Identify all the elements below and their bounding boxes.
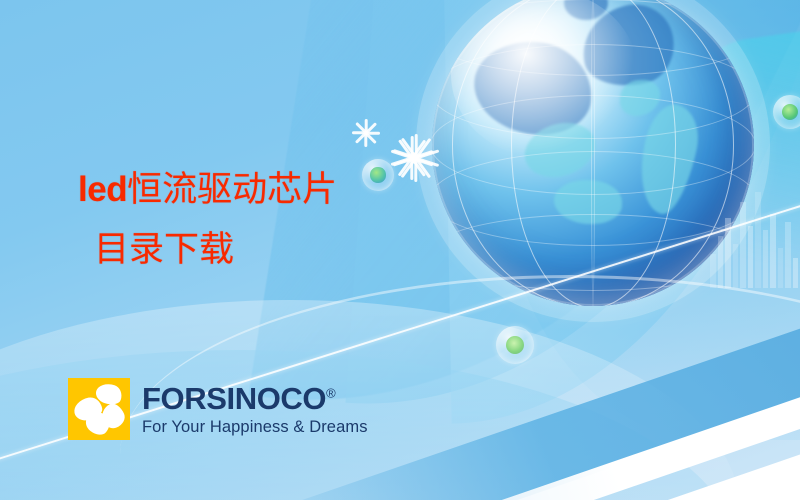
skyline-building [725,218,731,288]
company-name-word: FORSINOCO [142,381,326,416]
bubble-leaf-icon-core [506,336,524,354]
sparkle-ray [365,133,368,147]
logo-text-block: FORSINOCO® For Your Happiness & Dreams [142,383,368,436]
sparkle-ray [355,122,367,134]
city-skyline-silhouette [710,188,800,288]
sparkle-ray [365,119,368,133]
headline-text: led恒流驱动芯片 目录下载 [78,160,418,280]
sparkle-ray [393,149,417,159]
promo-banner: led恒流驱动芯片 目录下载 FORSINOCO® For Your Happi… [0,0,800,500]
headline-cjk-main: 恒流驱动芯片 [127,170,337,209]
sparkle-small-upper [352,119,380,147]
dark-blue-diagonal-band [389,371,800,500]
headline-line-2: 目录下载 [78,220,418,280]
sparkle-ray [391,150,413,159]
skyline-building [778,248,784,288]
sparkle-ray [401,138,417,159]
sparkle-ray [365,132,377,144]
skyline-building [740,202,746,288]
bubble-right-edge-core [782,104,798,120]
sparkle-ray [355,132,367,144]
sparkle-ray [415,138,431,159]
skyline-building [733,244,739,288]
bubble-leaf-icon [496,326,534,364]
company-logo: FORSINOCO® For Your Happiness & Dreams [68,378,368,440]
bubble-right-edge [773,95,800,129]
white-diagonal-band-lower [293,362,800,500]
skyline-building [755,192,761,288]
skyline-building [748,226,754,288]
earth-globe [432,0,754,306]
headline-line-1: led恒流驱动芯片 [78,160,418,220]
white-diagonal-band [325,313,800,500]
skyline-building [710,254,716,288]
sparkle-ray [412,150,434,159]
company-tagline: For Your Happiness & Dreams [142,419,368,436]
sparkle-ray [415,134,418,158]
sparkle-ray [398,139,413,158]
forsinoco-pinwheel-mark [68,378,130,440]
sparkle-ray [366,132,380,135]
sparkle-ray [411,139,426,158]
skyline-building [793,258,799,288]
sparkle-ray [365,122,377,134]
globe-parallel-5 [432,214,754,291]
sparkle-ray [411,136,414,158]
headline-latin-prefix: led [78,170,127,209]
skyline-building [770,214,776,288]
sparkle-ray [352,132,366,135]
company-name: FORSINOCO® [142,383,368,414]
skyline-building [718,236,724,288]
skyline-building [763,230,769,288]
registered-trademark-icon: ® [326,385,335,400]
skyline-building [785,222,791,288]
